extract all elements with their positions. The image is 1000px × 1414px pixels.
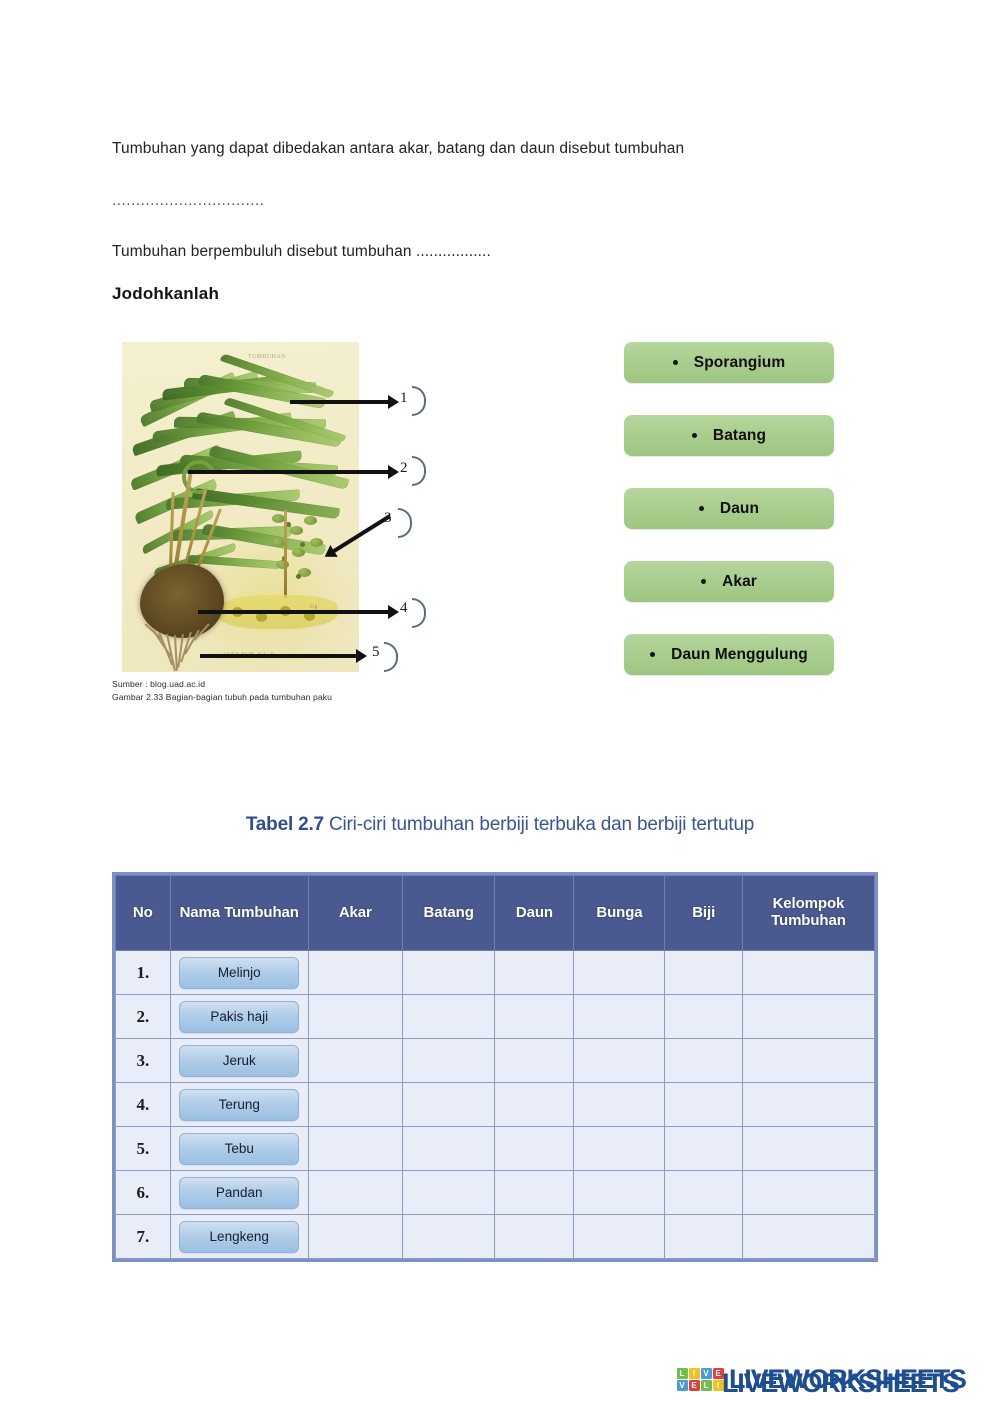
cell-daun[interactable] [495, 1127, 574, 1171]
plant-characteristics-table: No Nama Tumbuhan Akar Batang Daun Bunga … [112, 872, 878, 1262]
logo-tile: V [677, 1380, 688, 1391]
answer-chip-label: Sporangium [694, 354, 785, 372]
cell-daun[interactable] [495, 995, 574, 1039]
cell-kelompok[interactable] [742, 1127, 874, 1171]
callout-number-4[interactable]: 4 [400, 600, 408, 617]
table-title-text: Ciri-ciri tumbuhan berbiji terbuka dan b… [329, 814, 754, 835]
table-row: 7. Lengkeng [116, 1215, 875, 1259]
logo-tile: V [701, 1368, 712, 1379]
callout-number-3[interactable]: 3 [384, 510, 392, 527]
plant-name-cell: Terung [170, 1083, 308, 1127]
table-row: 5. Tebu [116, 1127, 875, 1171]
cell-bunga[interactable] [574, 1127, 665, 1171]
section-heading: Jodohkanlah [112, 284, 219, 304]
liveworksheets-wordmark: LIVEWORKSHEETS [722, 1368, 959, 1399]
cell-kelompok[interactable] [742, 1215, 874, 1259]
plant-name-chip[interactable]: Pandan [179, 1177, 299, 1209]
answer-chip-sporangium[interactable]: Sporangium [624, 342, 834, 383]
plant-name-cell: Lengkeng [170, 1215, 308, 1259]
plant-name-chip[interactable]: Melinjo [179, 957, 299, 989]
callout-brace-5 [384, 642, 398, 672]
cell-akar[interactable] [308, 995, 402, 1039]
cell-daun[interactable] [495, 1039, 574, 1083]
callout-arrow-1 [290, 400, 390, 404]
row-number: 5. [116, 1127, 171, 1171]
cell-biji[interactable] [665, 995, 742, 1039]
callout-arrow-2 [188, 470, 390, 474]
cell-kelompok[interactable] [742, 1039, 874, 1083]
table-title: Tabel 2.7 Ciri-ciri tumbuhan berbiji ter… [0, 814, 1000, 836]
matching-exercise: TUMBUHAN ACER SUB. SA. P. fig Sumber : b… [0, 330, 1000, 730]
column-header-daun: Daun [495, 876, 574, 951]
question-text-block: Tumbuhan yang dapat dibedakan antara aka… [112, 138, 812, 292]
table-title-number: Tabel 2.7 [246, 814, 324, 835]
answer-chip-batang[interactable]: Batang [624, 415, 834, 456]
cell-kelompok[interactable] [742, 951, 874, 995]
bullet-icon [701, 579, 706, 584]
cell-batang[interactable] [402, 1039, 495, 1083]
answer-chip-daun[interactable]: Daun [624, 488, 834, 529]
logo-tile: L [677, 1368, 688, 1379]
row-number: 6. [116, 1171, 171, 1215]
table-row: 6. Pandan [116, 1171, 875, 1215]
footer-watermark: L I V E V E L I LIVEWORKSHEETS LIVEWORKS… [0, 1352, 1000, 1412]
callout-arrow-5 [200, 654, 358, 658]
cell-biji[interactable] [665, 1127, 742, 1171]
callout-brace-2 [412, 456, 426, 486]
column-header-biji: Biji [665, 876, 742, 951]
callout-arrow-4 [198, 610, 390, 614]
plant-name-chip[interactable]: Jeruk [179, 1045, 299, 1077]
callout-arrow-3 [331, 514, 391, 553]
cell-batang[interactable] [402, 1171, 495, 1215]
cell-akar[interactable] [308, 1083, 402, 1127]
callout-brace-1 [412, 386, 426, 416]
row-number: 4. [116, 1083, 171, 1127]
cell-akar[interactable] [308, 951, 402, 995]
cell-daun[interactable] [495, 951, 574, 995]
table-row: 3. Jeruk [116, 1039, 875, 1083]
bullet-icon [650, 652, 655, 657]
table-row: 1. Melinjo [116, 951, 875, 995]
question-line-1: Tumbuhan yang dapat dibedakan antara aka… [112, 138, 812, 160]
question-line-2: Tumbuhan berpembuluh disebut tumbuhan ..… [112, 241, 812, 263]
column-header-batang: Batang [402, 876, 495, 951]
cell-daun[interactable] [495, 1083, 574, 1127]
cell-bunga[interactable] [574, 995, 665, 1039]
plant-name-cell: Pakis haji [170, 995, 308, 1039]
logo-tile: I [689, 1368, 700, 1379]
callout-brace-3 [398, 508, 412, 538]
table-header-row: No Nama Tumbuhan Akar Batang Daun Bunga … [116, 876, 875, 951]
cell-batang[interactable] [402, 1127, 495, 1171]
cell-bunga[interactable] [574, 1039, 665, 1083]
column-header-akar: Akar [308, 876, 402, 951]
table-row: 2. Pakis haji [116, 995, 875, 1039]
answer-chip-label: Akar [722, 573, 757, 591]
cell-bunga[interactable] [574, 951, 665, 995]
answer-chip-label: Daun Menggulung [671, 646, 808, 664]
cell-batang[interactable] [402, 1083, 495, 1127]
cell-kelompok[interactable] [742, 1171, 874, 1215]
plant-name-cell: Jeruk [170, 1039, 308, 1083]
callout-brace-4 [412, 598, 426, 628]
plant-name-chip[interactable]: Terung [179, 1089, 299, 1121]
cell-bunga[interactable] [574, 1215, 665, 1259]
plant-name-cell: Melinjo [170, 951, 308, 995]
plant-name-chip[interactable]: Pakis haji [179, 1001, 299, 1033]
cell-biji[interactable] [665, 1039, 742, 1083]
column-header-no: No [116, 876, 171, 951]
cell-biji[interactable] [665, 1171, 742, 1215]
bullet-icon [673, 360, 678, 365]
logo-tile: L [701, 1380, 712, 1391]
cell-biji[interactable] [665, 1215, 742, 1259]
bullet-icon [699, 506, 704, 511]
cell-bunga[interactable] [574, 1171, 665, 1215]
cell-kelompok[interactable] [742, 995, 874, 1039]
cell-bunga[interactable] [574, 1083, 665, 1127]
cell-daun[interactable] [495, 1215, 574, 1259]
plant-name-cell: Pandan [170, 1171, 308, 1215]
table-row: 4. Terung [116, 1083, 875, 1127]
answer-chip-daun-menggulung[interactable]: Daun Menggulung [624, 634, 834, 675]
cell-batang[interactable] [402, 1215, 495, 1259]
plant-name-chip[interactable]: Lengkeng [179, 1221, 299, 1253]
cell-akar[interactable] [308, 1039, 402, 1083]
figure-caption-text: Gambar 2.33 Bagian-bagian tubuh pada tum… [112, 691, 422, 704]
liveworksheets-logo-front: LIVEWORKSHEETS [722, 1364, 959, 1402]
cell-akar[interactable] [308, 1171, 402, 1215]
cell-biji[interactable] [665, 951, 742, 995]
live-tiles-icon: L I V E V E L I [676, 1367, 724, 1391]
cell-daun[interactable] [495, 1171, 574, 1215]
plant-name-chip[interactable]: Tebu [179, 1133, 299, 1165]
answer-chip-akar[interactable]: Akar [624, 561, 834, 602]
row-number: 1. [116, 951, 171, 995]
callout-number-5[interactable]: 5 [372, 644, 380, 661]
answer-chip-label: Daun [720, 500, 759, 518]
cell-akar[interactable] [308, 1127, 402, 1171]
row-number: 3. [116, 1039, 171, 1083]
column-header-nama-tumbuhan: Nama Tumbuhan [170, 876, 308, 951]
answer-chip-list: Sporangium Batang Daun Akar Daun Menggul… [624, 342, 834, 707]
plant-name-cell: Tebu [170, 1127, 308, 1171]
cell-akar[interactable] [308, 1215, 402, 1259]
callout-number-2[interactable]: 2 [400, 460, 408, 477]
row-number: 2. [116, 995, 171, 1039]
cell-biji[interactable] [665, 1083, 742, 1127]
cell-batang[interactable] [402, 951, 495, 995]
callout-number-1[interactable]: 1 [400, 390, 408, 407]
figure-callouts: 1 2 3 4 5 [112, 342, 432, 682]
answer-chip-label: Batang [713, 427, 766, 445]
row-number: 7. [116, 1215, 171, 1259]
column-header-kelompok-tumbuhan: Kelompok Tumbuhan [742, 876, 874, 951]
cell-batang[interactable] [402, 995, 495, 1039]
logo-tile: E [689, 1380, 700, 1391]
bullet-icon [692, 433, 697, 438]
question-blank-line: ................................ [112, 190, 812, 211]
column-header-bunga: Bunga [574, 876, 665, 951]
cell-kelompok[interactable] [742, 1083, 874, 1127]
